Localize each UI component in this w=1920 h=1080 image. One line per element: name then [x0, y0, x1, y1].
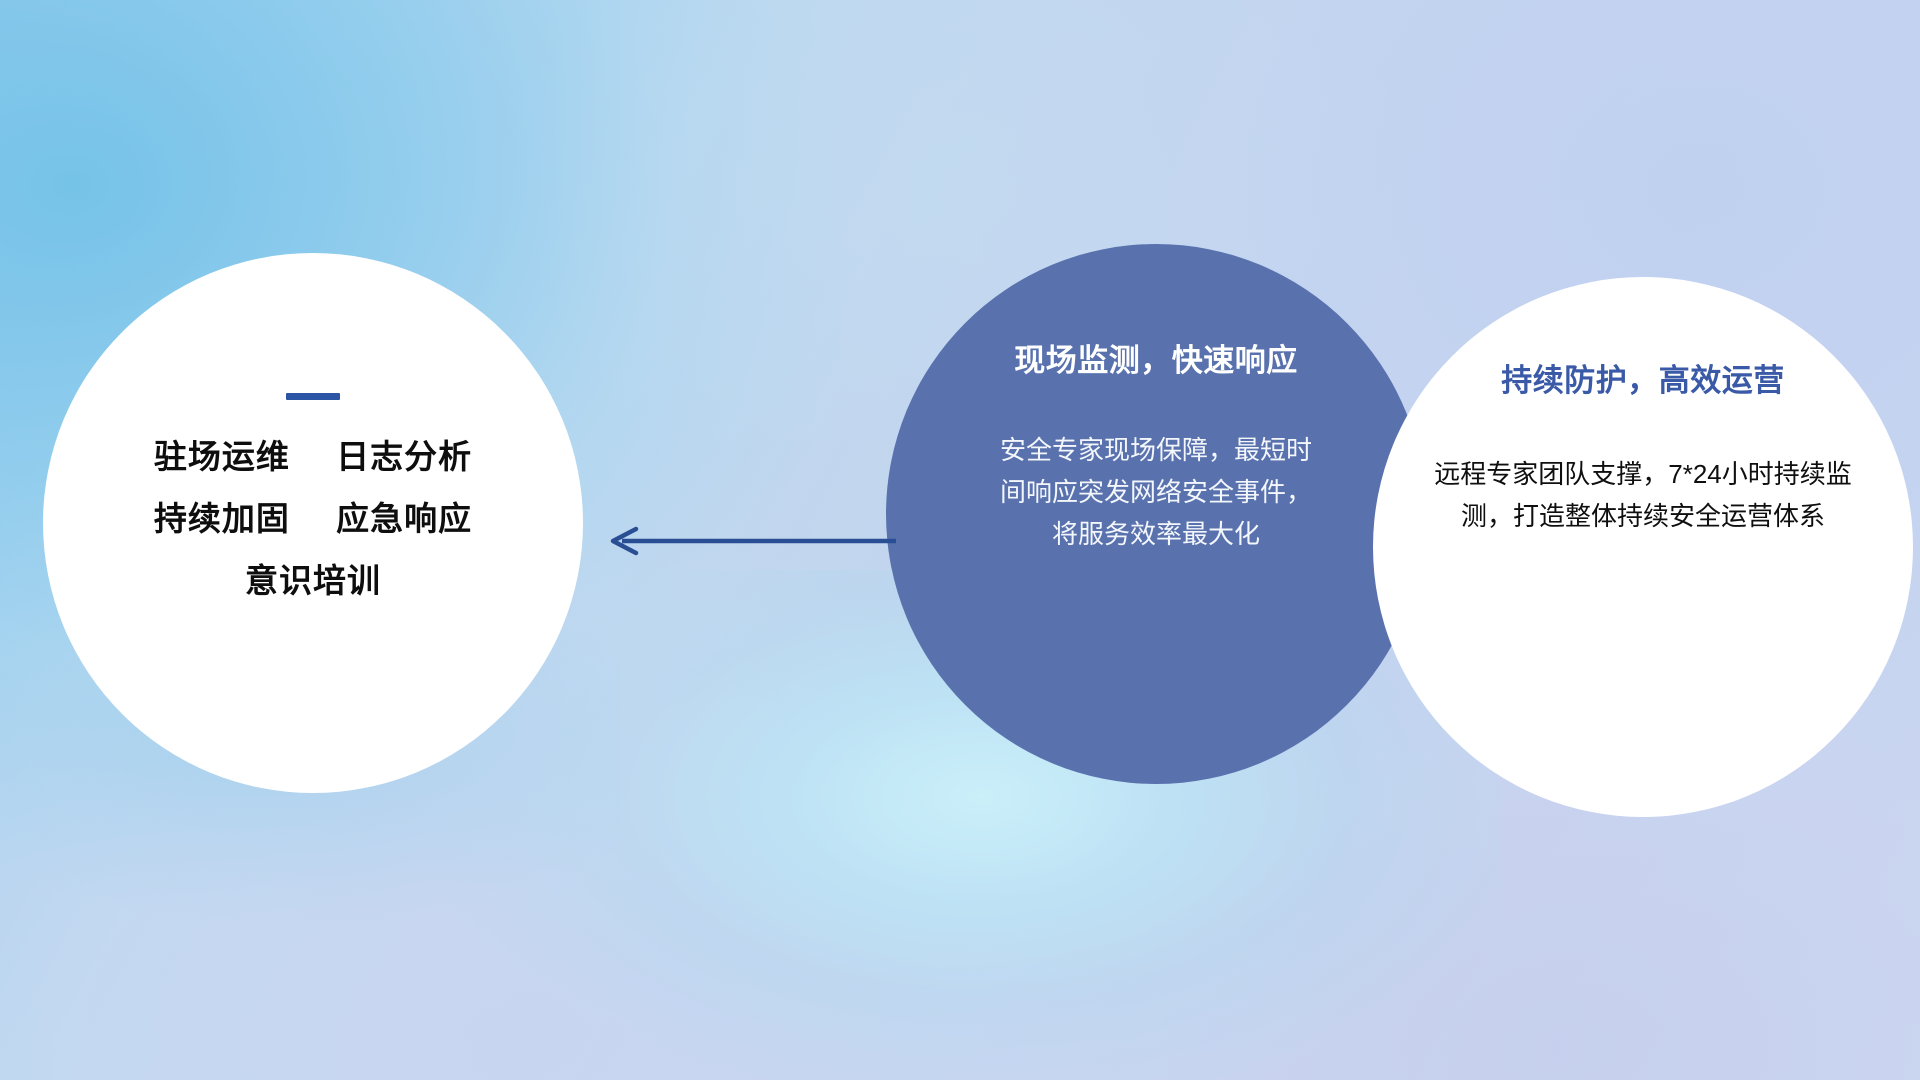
divider-dash-icon [286, 393, 340, 400]
arrow-left-icon [600, 520, 900, 562]
slide-canvas: 现场监测，快速响应 安全专家现场保障，最短时间响应突发网络安全事件，将服务效率最… [0, 0, 1920, 1080]
circle-onsite-monitoring-content: 现场监测，快速响应 安全专家现场保障，最短时间响应突发网络安全事件，将服务效率最… [886, 244, 1426, 784]
circle-onsite-monitoring-body: 安全专家现场保障，最短时间响应突发网络安全事件，将服务效率最大化 [991, 429, 1321, 555]
circle-onsite-monitoring-title: 现场监测，快速响应 [1014, 335, 1298, 380]
capability-row-2: 持续加固 应急响应 [154, 502, 472, 535]
capability-label-log-analysis: 日志分析 [336, 438, 472, 475]
capability-label-emergency-response: 应急响应 [336, 500, 472, 537]
circle-onsite-monitoring[interactable]: 现场监测，快速响应 安全专家现场保障，最短时间响应突发网络安全事件，将服务效率最… [886, 244, 1426, 784]
capability-label-continuous-hardening: 持续加固 [154, 500, 290, 537]
connector-arrow [600, 520, 900, 562]
circle-continuous-protection-title: 持续防护，高效运营 [1501, 355, 1785, 400]
circle-continuous-protection-content: 持续防护，高效运营 远程专家团队支撑，7*24小时持续监测，打造整体持续安全运营… [1373, 277, 1913, 817]
capability-row-1: 驻场运维 日志分析 [154, 440, 472, 473]
circle-service-capabilities[interactable]: 驻场运维 日志分析 持续加固 应急响应 意识培训 [43, 253, 583, 793]
capability-label-onsite-ops: 驻场运维 [154, 438, 290, 475]
circle-continuous-protection[interactable]: 持续防护，高效运营 远程专家团队支撑，7*24小时持续监测，打造整体持续安全运营… [1373, 277, 1913, 817]
circle-continuous-protection-body: 远程专家团队支撑，7*24小时持续监测，打造整体持续安全运营体系 [1433, 453, 1853, 538]
capability-label-awareness-training: 意识培训 [245, 564, 381, 597]
